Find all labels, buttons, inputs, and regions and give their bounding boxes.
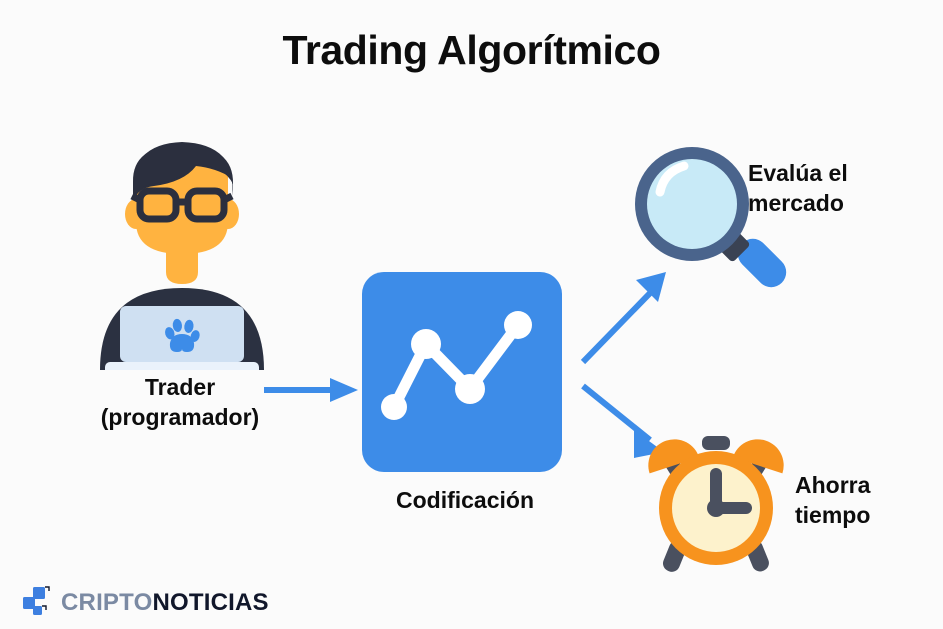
alarm-clock-icon (636, 418, 796, 576)
logo-wordmark: CRIPTONOTICIAS (61, 589, 269, 617)
page-title: Trading Algorítmico (0, 27, 943, 74)
infographic-canvas: Trading Algorítmico (0, 0, 943, 629)
time-label: Ahorra tiempo (795, 470, 943, 531)
logo-text-noticias: NOTICIAS (152, 589, 268, 616)
criptonoticias-logo[interactable]: CRIPTONOTICIAS (22, 586, 269, 620)
time-label-line1: Ahorra (795, 470, 943, 500)
market-label: Evalúa el mercado (748, 158, 928, 219)
line-chart-icon (362, 272, 562, 472)
trader-with-laptop-illustration (92, 138, 272, 370)
coding-label: Codificación (320, 485, 610, 515)
time-label-line2: tiempo (795, 500, 943, 530)
criptonoticias-blocks-icon (22, 585, 52, 622)
market-label-line2: mercado (748, 188, 928, 218)
arrow-trader-to-coding (262, 370, 362, 410)
market-label-line1: Evalúa el (748, 158, 928, 188)
logo-text-cripto: CRIPTO (61, 589, 152, 616)
